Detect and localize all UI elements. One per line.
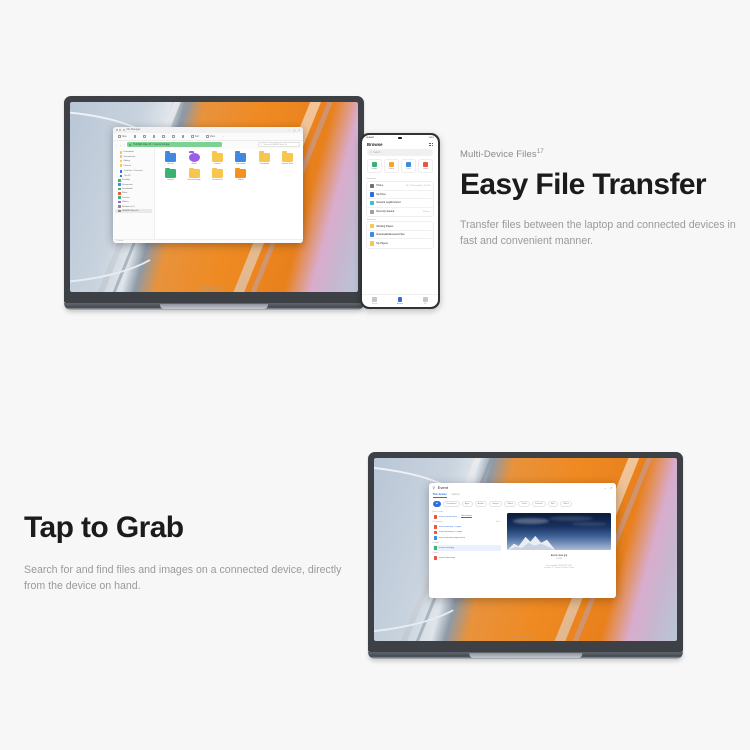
result-item-name: Event Briefing v2.0.pptx <box>439 531 462 533</box>
chip-formats[interactable]: Formats <box>532 501 546 507</box>
folder-label: Documents <box>236 163 246 165</box>
top-eyebrow: Multi-Device Files17 <box>460 148 750 160</box>
sidebar-item-music[interactable]: Music <box>115 191 152 195</box>
close-icon[interactable]: × <box>610 486 612 490</box>
delete-icon <box>182 135 185 138</box>
search-icon: ⚲ <box>370 151 372 154</box>
recent-icon <box>372 297 376 301</box>
videos-icon <box>118 201 121 204</box>
search-icon: ⚲ <box>260 144 262 146</box>
search-window[interactable]: ⚲ Event – × This device History All Docu <box>429 483 617 598</box>
sidebar-item-label: Pictures <box>122 197 130 199</box>
search-window-topbar[interactable]: ⚲ Event – × <box>429 483 617 493</box>
new-icon <box>118 135 121 138</box>
status-text: 10 items <box>116 240 123 242</box>
result-item-name: Event Outline.docx <box>439 516 457 518</box>
phone-search-input[interactable]: ⚲ Search <box>367 149 433 156</box>
toolbar-cut-button[interactable] <box>132 134 139 139</box>
drive-icon <box>118 205 121 208</box>
folder-icon <box>120 164 123 167</box>
result-item-name: Event video.mp4 <box>439 557 455 559</box>
phone-shortcuts-card: Working Papers› Downloads/Received Files… <box>366 221 434 249</box>
cut-icon <box>134 135 137 138</box>
folder-icon <box>165 153 176 162</box>
chip-tasks[interactable]: Tasks <box>518 501 530 507</box>
result-item-name: Event cover.jpg <box>439 547 454 549</box>
top-headline: Easy File Transfer <box>460 169 750 201</box>
chevron-right-icon: › <box>429 193 430 196</box>
tab-label: Recent <box>372 303 378 305</box>
chip-documents[interactable]: Documents <box>443 501 460 507</box>
folder-icon <box>165 169 176 178</box>
minimize-icon[interactable]: – <box>605 486 607 490</box>
list-item-my-papers[interactable]: My Papers› <box>367 239 433 248</box>
sidebar-item-onedrive[interactable]: ›OneDrive - Personal <box>115 169 152 173</box>
folder-icon <box>189 169 200 178</box>
group-label: Documents <box>433 521 443 523</box>
more-icon: ··· <box>222 135 224 138</box>
chip-all[interactable]: All <box>433 501 442 507</box>
toolbar-delete-button[interactable] <box>180 134 187 139</box>
documents-icon <box>118 183 121 186</box>
top-eyebrow-footnote: 17 <box>537 148 544 155</box>
top-subcopy: Transfer files between the laptop and co… <box>460 217 750 250</box>
toolbar-share-button[interactable] <box>170 134 177 139</box>
toolbar-paste-button[interactable] <box>151 134 158 139</box>
file-manager-sidebar[interactable]: Downloads Screenshots Editing Pictures ›… <box>113 149 155 239</box>
toolbar-rename-button[interactable] <box>160 134 167 139</box>
chevron-down-icon: › <box>116 175 118 177</box>
minimize-icon[interactable]: – <box>288 128 290 132</box>
paste-icon <box>153 135 156 138</box>
list-item-label: My Drive <box>376 193 385 196</box>
laptop-brand: HUAWEI <box>374 635 677 639</box>
folder-item[interactable]: Audio <box>183 153 204 165</box>
folder-label: Huawei Share <box>282 163 294 165</box>
sidebar-item-downloads[interactable]: Downloads <box>115 150 152 154</box>
network-icon <box>370 201 374 205</box>
folder-item[interactable]: Internal storage <box>183 169 204 181</box>
list-item-meta: 38.71 GB available / 128 GB <box>406 185 430 187</box>
preview-caption: Event cover.jpg <box>507 554 612 557</box>
category-tile-videos[interactable]: Videos <box>384 159 399 173</box>
sidebar-item-label: OneDrive - Personal <box>124 170 143 172</box>
desktop-icon <box>118 179 121 182</box>
folder-icon <box>370 232 374 236</box>
copy-icon <box>143 135 146 138</box>
top-eyebrow-text: Multi-Device Files <box>460 149 537 160</box>
battery-label: 100% <box>429 137 434 139</box>
up-icon[interactable]: ↑ <box>123 143 125 147</box>
list-item-network-neighborhood[interactable]: Network neighborhood› <box>367 199 433 208</box>
maximize-icon[interactable]: ◻ <box>293 128 296 132</box>
phone-icon <box>118 210 121 213</box>
chevron-right-icon: › <box>429 242 430 245</box>
list-item-my-drive[interactable]: My Drive› <box>367 191 433 200</box>
open-location-link[interactable]: Open location <box>461 515 472 518</box>
folder-icon <box>120 155 123 158</box>
list-item-working-papers[interactable]: Working Papers› <box>367 222 433 231</box>
rename-icon <box>162 135 165 138</box>
phone-screen: HUAWEI 100% Browse ⚲ Search Images Video… <box>362 135 438 307</box>
docs-icon <box>406 162 411 167</box>
folder-icon <box>212 169 223 178</box>
close-icon[interactable]: × <box>299 128 301 132</box>
laptop-top: File Manager – ◻ × New <box>64 96 364 310</box>
search-icon: ⚲ <box>433 486 436 490</box>
folder-item[interactable]: Huawei Share <box>277 153 298 165</box>
file-manager-body: Downloads Screenshots Editing Pictures ›… <box>113 149 303 239</box>
chevron-right-icon: › <box>429 233 430 236</box>
laptop-bottom: ⚲ Event – × This device History All Docu <box>368 452 683 659</box>
folder-item[interactable]: Camera <box>207 153 228 165</box>
list-item-label: Working Papers <box>376 225 393 228</box>
browse-icon <box>398 297 402 301</box>
tab-browse[interactable]: Browse <box>387 295 412 307</box>
folder-label: Downloads <box>260 163 269 165</box>
chip-videos[interactable]: Videos <box>504 501 516 507</box>
document-icon <box>434 536 437 539</box>
bottom-subcopy: Search for and find files and images on … <box>24 562 354 595</box>
folder-icon <box>120 151 123 154</box>
folder-icon <box>212 153 223 162</box>
folder-item[interactable]: Archive <box>160 153 181 165</box>
tab-recent[interactable]: Recent <box>362 295 387 307</box>
trash-icon <box>370 210 374 214</box>
result-item-event-video[interactable]: Event video.mp4 <box>433 555 501 561</box>
top-copy-block: Multi-Device Files17 Easy File Transfer … <box>460 148 750 249</box>
category-tile-images[interactable]: Images <box>367 159 382 173</box>
grid-view-icon[interactable] <box>429 143 433 147</box>
phone-search-placeholder: Search <box>373 152 380 154</box>
nav-arrows[interactable]: ‹ › ↑ <box>116 143 125 147</box>
sidebar-item-label: Documents <box>122 184 133 186</box>
search-preview-panel: Event cover.jpg 2.6 MB Date modified: 20… <box>504 510 617 598</box>
breadcrumb-folder-icon <box>129 144 131 146</box>
folder-item[interactable]: Downloads <box>254 153 275 165</box>
result-item-name: Event Meeting 1.0.pptx <box>439 526 461 528</box>
folder-icon <box>120 160 123 163</box>
folder-icon <box>282 153 293 162</box>
toolbar-new-label: New <box>122 135 127 138</box>
forward-icon[interactable]: › <box>120 143 121 147</box>
folder-item[interactable]: Screenshots <box>207 169 228 181</box>
category-tile-label: Images <box>371 168 377 170</box>
folder-label: Audio <box>192 163 197 165</box>
chip-mail[interactable]: Mail <box>548 501 558 507</box>
chevron-right-icon: › <box>116 170 118 172</box>
phone-category-tiles: Images Videos Docs Audio <box>362 159 438 177</box>
download-icon <box>118 188 121 191</box>
folder-item[interactable]: Documents <box>230 153 251 165</box>
file-manager-content[interactable]: Archive Audio Camera Documents Downloads… <box>155 149 303 239</box>
folder-item[interactable]: Images <box>160 169 181 181</box>
category-tile-label: Videos <box>389 168 394 170</box>
folder-icon <box>370 224 374 228</box>
phone-storage-icon <box>370 184 374 188</box>
drive-icon <box>370 192 374 196</box>
laptop-screen: ⚲ Event – × This device History All Docu <box>374 458 677 641</box>
folder-label: Camera <box>214 163 221 165</box>
list-item-label: My Papers <box>376 242 387 245</box>
videos-icon <box>389 162 394 167</box>
pictures-icon <box>118 196 121 199</box>
sort-icon <box>191 135 194 138</box>
toolbar-new-button[interactable]: New <box>116 134 128 139</box>
preview-size: 2.6 MB <box>507 558 612 560</box>
images-icon <box>372 162 377 167</box>
pc-icon <box>120 175 123 178</box>
phone-page-title: Browse <box>367 142 383 147</box>
file-manager-title: File Manager <box>127 128 141 131</box>
back-icon[interactable]: ‹ <box>116 143 117 147</box>
folder-item[interactable]: Videos <box>230 169 251 181</box>
chip-others[interactable]: Others <box>560 501 572 507</box>
group-label: Videos <box>433 552 439 554</box>
laptop-base <box>64 303 364 310</box>
laptop-lid: ⚲ Event – × This device History All Docu <box>368 452 683 652</box>
breadcrumb-text: HUAWEI Mate 40 > Internal storage <box>133 144 170 146</box>
tab-label: Me <box>424 303 427 305</box>
result-item-event-meeting[interactable]: Event Meeting 1.0.pptx <box>433 524 501 530</box>
presentation-icon <box>434 531 437 534</box>
list-item-meta: 30 items <box>423 211 430 213</box>
chevron-right-icon: › <box>429 201 430 204</box>
folder-icon <box>370 241 374 245</box>
laptop-lid: File Manager – ◻ × New <box>64 96 364 303</box>
preview-meta-location: Location: C: \ Users \ Pictures \ Event <box>507 567 612 570</box>
breadcrumb[interactable]: HUAWEI Mate 40 > Internal storage <box>127 142 223 147</box>
sidebar-item-label: Downloads <box>122 188 132 190</box>
group-label: Images <box>433 542 440 544</box>
laptop-brand: HUAWEI <box>70 286 358 290</box>
video-icon <box>434 556 437 559</box>
preview-metadata: Date modified: 2022/07/20 15:42 Location… <box>507 565 612 570</box>
folder-icon <box>259 153 270 162</box>
category-tile-label: Audio <box>423 168 428 170</box>
list-item-phone[interactable]: Phone38.71 GB available / 128 GB <box>367 182 433 191</box>
group-label: Best results <box>433 511 443 513</box>
file-manager-address-bar[interactable]: ‹ › ↑ HUAWEI Mate 40 > Internal storage … <box>113 141 303 149</box>
sidebar-item-huawei-mate-40[interactable]: HUAWEI Mate 40 <box>115 209 152 213</box>
list-item-label: Downloads/Received Files <box>376 233 404 236</box>
mountain-shape <box>507 531 556 551</box>
bottom-copy-block: Tap to Grab Search for and find files an… <box>24 512 354 594</box>
share-icon <box>172 135 175 138</box>
toolbar-view-button[interactable]: View <box>204 134 217 139</box>
phone-header: Browse <box>362 141 438 149</box>
image-icon <box>434 546 437 549</box>
document-icon <box>434 515 437 518</box>
window-menu-icon[interactable] <box>116 129 124 131</box>
toolbar-sort-label: Sort <box>195 135 199 138</box>
search-placeholder: Search HUAWEI Mate 40 <box>263 144 286 146</box>
search-results-body: Best results Event Outline.docx Open loc… <box>429 510 617 598</box>
view-icon <box>206 135 209 138</box>
toolbar-copy-button[interactable] <box>141 134 148 139</box>
search-query-input[interactable]: Event <box>438 485 448 490</box>
list-item-label: Network neighborhood <box>376 201 400 204</box>
carrier-label: HUAWEI <box>366 137 374 139</box>
search-filter-chips[interactable]: All Documents Apps Audios Images Videos … <box>429 498 617 510</box>
phone-statusbar: HUAWEI 100% <box>362 135 438 141</box>
sidebar-item-label: Editing <box>124 160 130 162</box>
laptop-notch <box>160 304 268 309</box>
promo-page: Multi-Device Files17 Easy File Transfer … <box>0 0 750 750</box>
folder-label: Images <box>168 179 174 181</box>
preview-image <box>507 513 612 551</box>
result-item-name: Event planning report.docx <box>439 537 465 539</box>
list-item-downloads-received[interactable]: Downloads/Received Files› <box>367 231 433 240</box>
tab-me[interactable]: Me <box>413 295 438 307</box>
toolbar-more-button[interactable]: ··· <box>220 134 226 139</box>
chevron-right-icon: › <box>429 225 430 228</box>
sidebar-item-label: Music <box>122 192 127 194</box>
phone-device: HUAWEI 100% Browse ⚲ Search Images Video… <box>360 133 440 309</box>
file-manager-statusbar: 10 items <box>113 239 303 243</box>
sidebar-item-label: Desktop <box>122 179 130 181</box>
toolbar-view-label: View <box>210 135 215 138</box>
search-window-controls[interactable]: – × <box>605 486 613 490</box>
phone-tabbar[interactable]: Recent Browse Me <box>362 294 438 307</box>
audio-icon <box>423 162 428 167</box>
folder-label: Archive <box>168 163 174 165</box>
phone-locations-card: Phone38.71 GB available / 128 GB My Driv… <box>366 181 434 217</box>
laptop-screen: File Manager – ◻ × New <box>70 102 358 292</box>
profile-icon <box>423 297 427 301</box>
category-tile-label: Docs <box>407 168 411 170</box>
window-controls[interactable]: – ◻ × <box>288 128 300 132</box>
file-manager-window[interactable]: File Manager – ◻ × New <box>113 127 303 243</box>
sidebar-item-label: Pictures <box>124 165 132 167</box>
folder-label: Screenshots <box>212 179 223 181</box>
chip-apps[interactable]: Apps <box>462 501 473 507</box>
category-tile-audio[interactable]: Audio <box>418 159 433 173</box>
laptop-notch <box>469 653 582 658</box>
search-results-list[interactable]: Best results Event Outline.docx Open loc… <box>429 510 504 598</box>
folder-label: Internal storage <box>187 179 200 181</box>
folder-icon <box>189 153 200 162</box>
folder-label: Videos <box>238 179 244 181</box>
tab-label: Browse <box>397 303 403 305</box>
presentation-icon <box>434 525 437 528</box>
sidebar-item-label: HUAWEI Mate 40 <box>122 210 138 212</box>
list-item-label: Recently deleted <box>376 210 394 213</box>
sidebar-item-label: Downloads <box>124 151 134 153</box>
chip-images[interactable]: Images <box>489 501 502 507</box>
category-tile-docs[interactable]: Docs <box>401 159 416 173</box>
folder-icon <box>235 153 246 162</box>
folder-icon <box>235 169 246 178</box>
sidebar-item-label: Windows (C:) <box>122 206 134 208</box>
more-link[interactable]: More <box>496 521 500 523</box>
laptop-base <box>368 652 683 659</box>
sidebar-item-label: This PC <box>124 175 131 177</box>
toolbar-sort-button[interactable]: Sort <box>189 134 201 139</box>
bottom-headline: Tap to Grab <box>24 512 354 544</box>
list-item-label: Phone <box>376 184 383 187</box>
chip-audios[interactable]: Audios <box>475 501 488 507</box>
cloud-icon <box>120 170 123 173</box>
folder-grid: Archive Audio Camera Documents Downloads… <box>160 153 298 182</box>
file-manager-toolbar[interactable]: New Sort View ··· <box>113 133 303 141</box>
camera-punch-hole-icon <box>398 137 402 140</box>
list-item-recently-deleted[interactable]: Recently deleted30 items <box>367 208 433 217</box>
sidebar-item-label: Screenshots <box>124 156 136 158</box>
file-manager-search-input[interactable]: ⚲ Search HUAWEI Mate 40 <box>258 142 300 147</box>
sidebar-item-label: Videos <box>122 201 128 203</box>
music-icon <box>118 192 121 195</box>
